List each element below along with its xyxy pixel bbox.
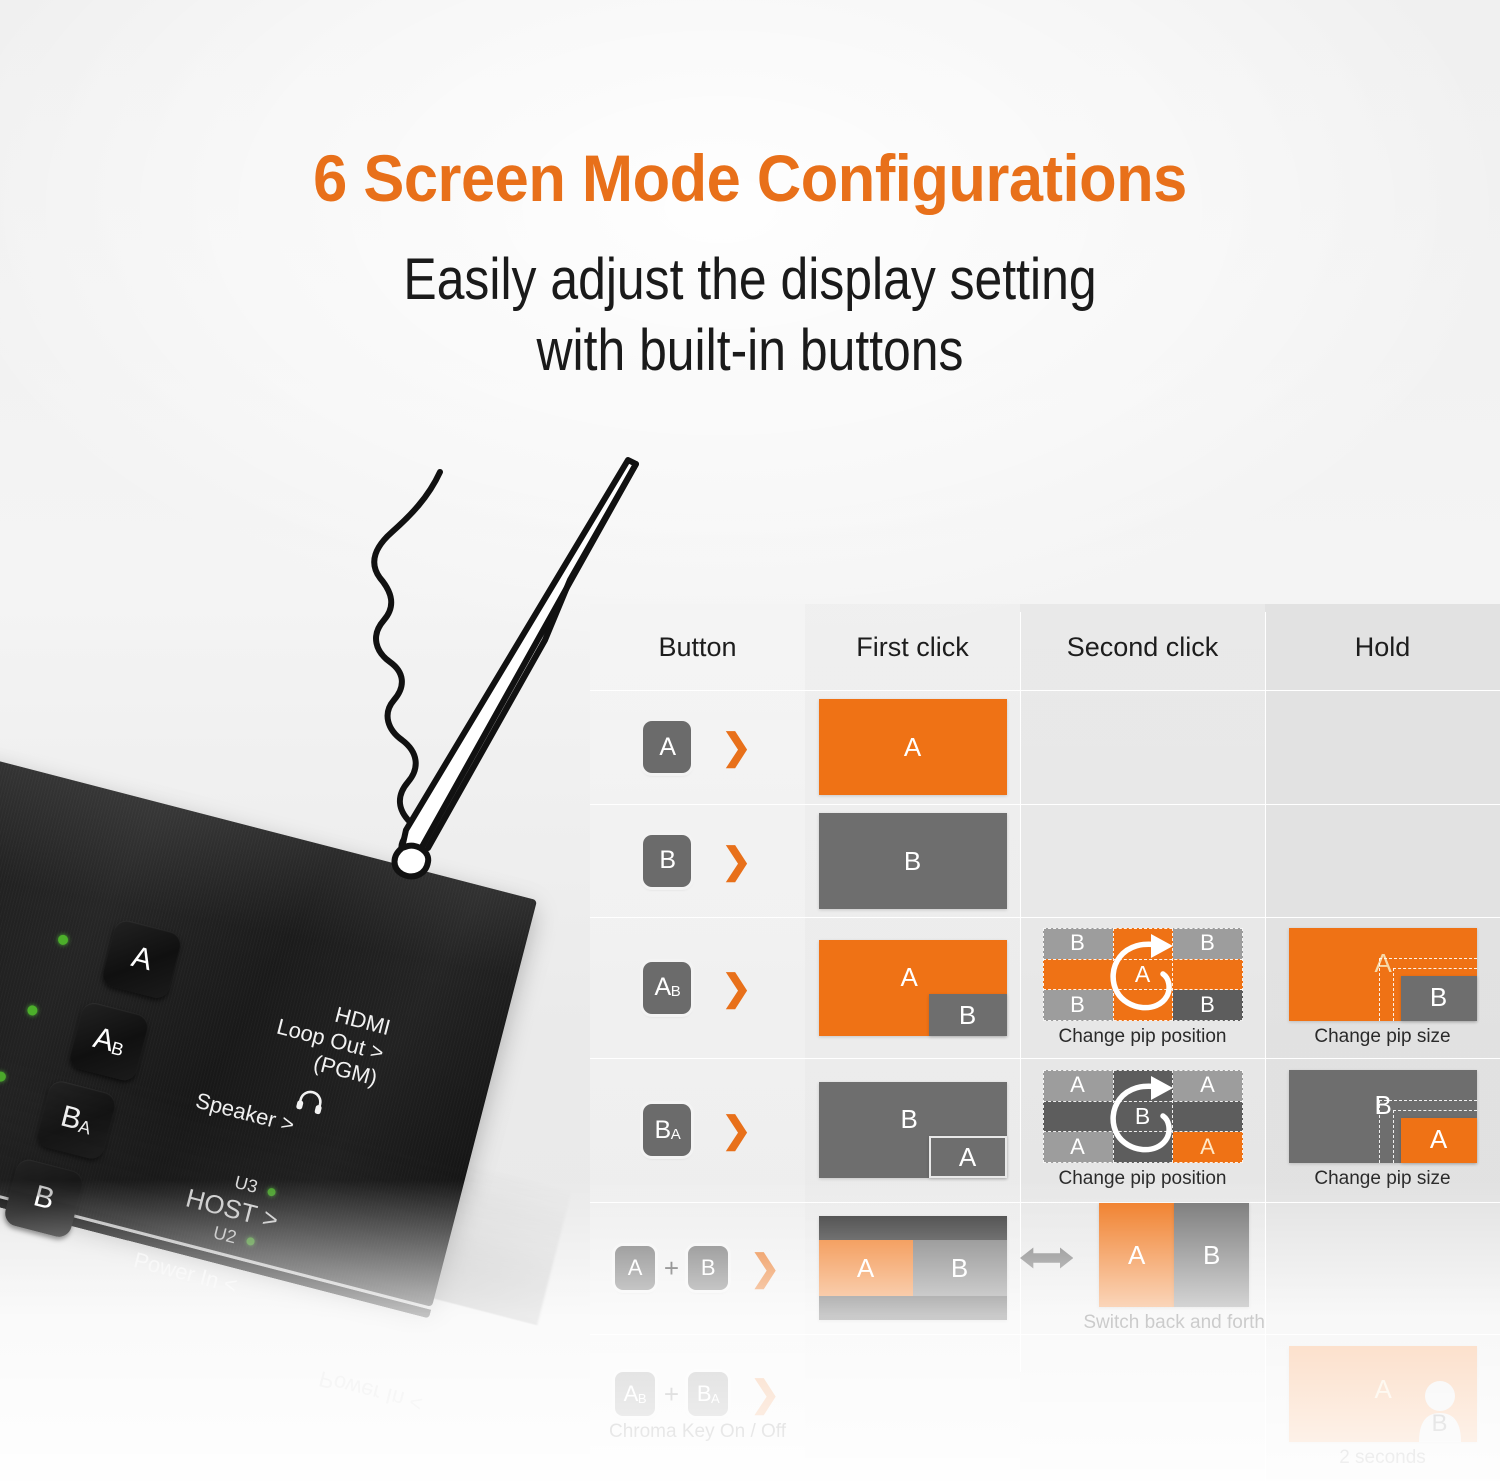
table-row: B ❯ B xyxy=(590,804,1500,917)
pip-window-a: A xyxy=(929,1136,1007,1178)
screen-preview-b: B xyxy=(819,813,1007,909)
row-ab-hold-cell: A B Change pip size xyxy=(1265,917,1500,1058)
pip-window-b: B xyxy=(929,994,1007,1036)
pip-window-a-sized: A xyxy=(1401,1118,1477,1163)
table-key-b[interactable]: B xyxy=(643,835,691,887)
pip-center-label-b: B xyxy=(1043,1103,1243,1130)
column-header-hold: Hold xyxy=(1265,632,1500,663)
device-button-a-label: A xyxy=(128,940,155,978)
pip-label-a: A xyxy=(931,1142,1005,1173)
table-key-ab[interactable]: AB xyxy=(643,962,691,1014)
table-header-row: Button First click Second click Hold xyxy=(590,604,1500,690)
screen-preview-ba-pip: B A xyxy=(819,1082,1007,1178)
table-row: AB ❯ A B B B B B xyxy=(590,917,1500,1058)
pip-position-diagram-ab: B B B B A xyxy=(1043,928,1243,1021)
column-header-second-click: Second click xyxy=(1020,632,1265,663)
column-header-first-click: First click xyxy=(805,632,1020,663)
pip-size-label-a: A xyxy=(1401,1124,1477,1155)
page-bottom-fade xyxy=(0,1180,1500,1481)
pip-position-diagram-ba: A A A A B xyxy=(1043,1070,1243,1163)
screen-preview-a: A xyxy=(819,699,1007,795)
screen-label-main-a: A xyxy=(901,962,918,993)
chevron-right-icon: ❯ xyxy=(721,843,751,879)
chevron-right-icon: ❯ xyxy=(721,1112,751,1148)
row-b-button-cell: B ❯ xyxy=(590,804,805,917)
row-a-second-click-cell xyxy=(1020,690,1265,804)
pip-label-b: B xyxy=(929,1000,1007,1031)
column-header-button: Button xyxy=(590,632,805,663)
screen-preview-ab-pip: A B xyxy=(819,940,1007,1036)
device-button-a[interactable]: A xyxy=(100,918,183,1001)
screen-label-a: A xyxy=(819,732,1007,763)
row-b-second-click-cell xyxy=(1020,804,1265,917)
pip-size-label-b: B xyxy=(1401,982,1477,1013)
page-title: 6 Screen Mode Configurations xyxy=(53,140,1448,216)
port-label-hdmi-loopout: HDMI Loop Out > (PGM) xyxy=(268,988,393,1091)
pip-window-b-sized: B xyxy=(1401,976,1477,1021)
caption-change-pip-position: Change pip position xyxy=(1059,1026,1227,1048)
table-row: A ❯ A xyxy=(590,690,1500,804)
chevron-right-icon: ❯ xyxy=(721,729,751,765)
row-a-hold-cell xyxy=(1265,690,1500,804)
page-subtitle-line2: with built-in buttons xyxy=(105,316,1395,387)
row-ab-button-cell: AB ❯ xyxy=(590,917,805,1058)
status-led-2 xyxy=(26,1004,38,1016)
table-key-a[interactable]: A xyxy=(643,721,691,773)
pip-size-diagram-ab: A B xyxy=(1289,928,1477,1021)
pip-center-label-a: A xyxy=(1043,961,1243,988)
status-led-1 xyxy=(57,934,69,946)
caption-change-pip-size: Change pip size xyxy=(1314,1026,1450,1048)
page-subtitle-line1: Easily adjust the display setting xyxy=(105,245,1395,316)
row-a-first-click-cell: A xyxy=(805,690,1020,804)
row-ab-second-click-cell: B B B B A Change pip position xyxy=(1020,917,1265,1058)
page-subtitle: Easily adjust the display setting with b… xyxy=(105,245,1395,387)
row-b-first-click-cell: B xyxy=(805,804,1020,917)
row-a-button-cell: A ❯ xyxy=(590,690,805,804)
screen-label-b: B xyxy=(819,846,1007,877)
chevron-right-icon: ❯ xyxy=(721,970,751,1006)
row-ab-first-click-cell: A B xyxy=(805,917,1020,1058)
table-key-ba[interactable]: BA xyxy=(643,1104,691,1156)
row-b-hold-cell xyxy=(1265,804,1500,917)
pip-size-diagram-ba: B A xyxy=(1289,1070,1477,1163)
screen-label-main-b: B xyxy=(901,1104,918,1135)
